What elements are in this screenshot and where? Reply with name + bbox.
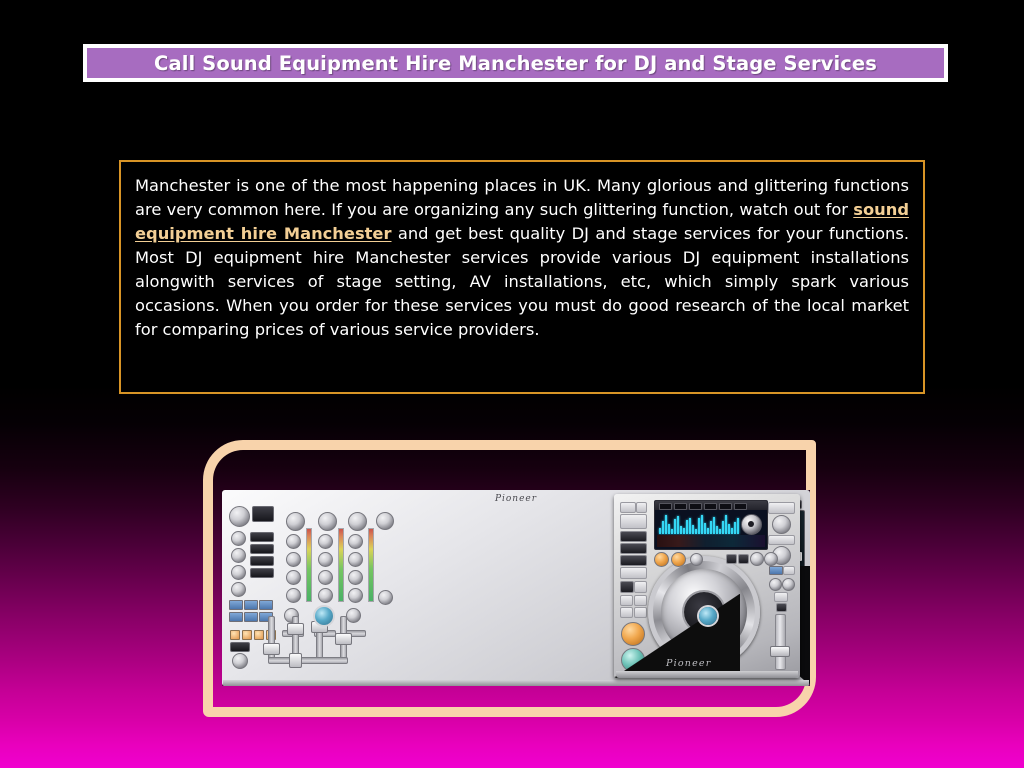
cdj-right-chassis: Pioneer <box>614 494 800 678</box>
cdj-right-jog-hub <box>699 607 717 625</box>
body-text-part1: Manchester is one of the most happening … <box>135 176 909 219</box>
cdj-right-display-lower <box>657 535 765 547</box>
djm-mixer-center: Pioneer <box>222 490 400 670</box>
mixer-brand-label: Pioneer <box>495 494 537 504</box>
slide-title-bar: Call Sound Equipment Hire Manchester for… <box>83 44 948 82</box>
dj-equipment-photo: Pioneer Pioneer <box>222 490 810 686</box>
cdj-right-display-disc-icon <box>741 514 762 535</box>
slide-canvas: Call Sound Equipment Hire Manchester for… <box>0 0 1024 768</box>
cdj-right-right-column <box>766 500 796 670</box>
body-text-box: Manchester is one of the most happening … <box>119 160 925 394</box>
body-paragraph: Manchester is one of the most happening … <box>135 174 909 342</box>
cdj-right-display-topbar <box>655 501 767 510</box>
mixer-base <box>223 680 809 686</box>
cdj-right-waveform <box>659 514 741 534</box>
page-title: Call Sound Equipment Hire Manchester for… <box>154 52 877 75</box>
cdj-right-display <box>654 500 768 550</box>
cdj-player-right: Pioneer <box>614 494 800 678</box>
cdj-right-brand-label: Pioneer <box>666 658 711 669</box>
cdj-right-base <box>616 671 798 678</box>
cdj-left-jog-hub <box>315 607 333 625</box>
